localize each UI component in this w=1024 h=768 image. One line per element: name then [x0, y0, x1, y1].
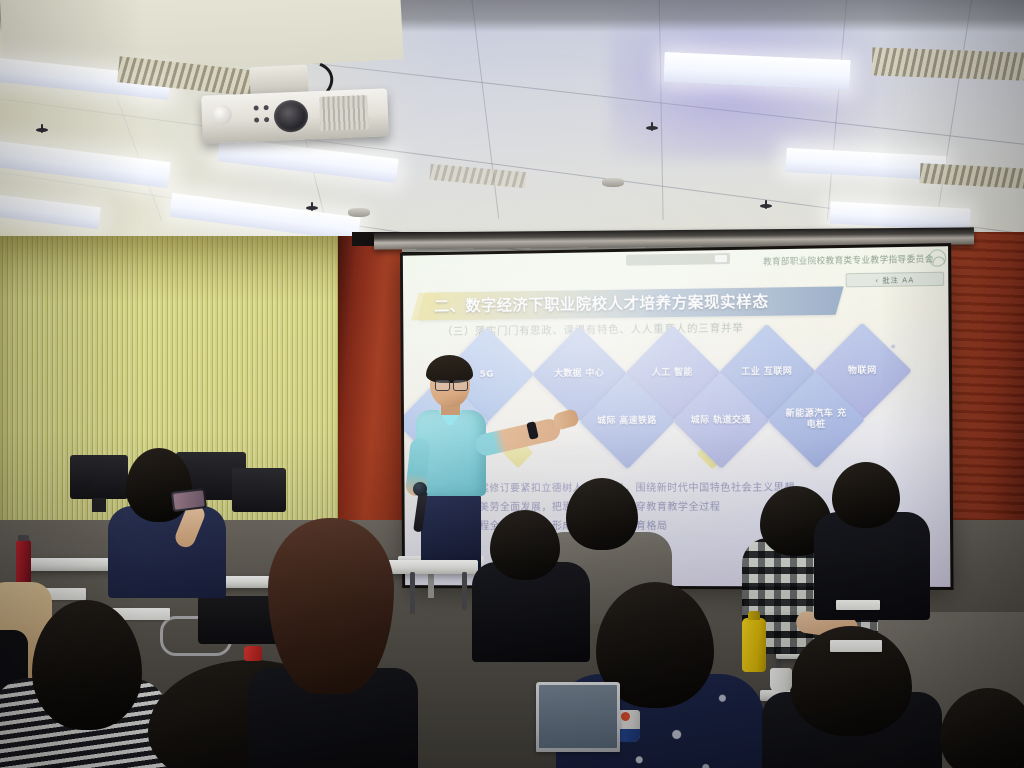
paper-sheet — [836, 600, 880, 610]
projector-indicator-icon — [264, 117, 269, 122]
laptop[interactable] — [536, 682, 620, 752]
smoke-detector — [348, 208, 370, 217]
projector — [201, 88, 389, 143]
sprinkler-head — [36, 128, 48, 132]
diamond-label: 物联网 — [828, 365, 898, 377]
projector-indicator-icon — [254, 117, 259, 122]
projector-focus-knob — [212, 105, 233, 126]
sprinkler-head — [646, 126, 658, 130]
projector-vent — [319, 95, 368, 131]
smoke-detector — [602, 178, 624, 187]
attendee-head — [268, 518, 394, 694]
desk-monitor-stand — [92, 498, 106, 512]
diamond-label: 城际 轨道交通 — [687, 415, 755, 427]
presenter-hair — [426, 355, 473, 383]
smartphone — [171, 488, 207, 512]
ppt-floating-toolbar[interactable]: ‹ 批注 AA — [846, 272, 945, 288]
projector-lens-icon — [273, 99, 308, 132]
yellow-bottle — [742, 618, 766, 672]
attendee-far-right — [940, 688, 1024, 768]
laptop-screen-surface — [539, 685, 617, 748]
lecture-hall-scene: ‹ 批注 AA 教育部职业院校教育类专业教学指导委员会 二、数字经济下职业院校人… — [0, 0, 1024, 768]
ceiling-air-vent — [872, 47, 1024, 80]
diamond-label: 工业 互联网 — [733, 366, 802, 378]
committee-logo-icon — [928, 249, 946, 267]
slide-organization-text: 教育部职业院校教育类专业教学指导委员会 — [763, 253, 934, 268]
paper-sheet — [830, 640, 882, 652]
attendee-rear-right — [818, 462, 938, 612]
podium-leg — [428, 572, 434, 598]
projector-indicator-icon — [254, 105, 259, 110]
cup-logo-icon — [621, 712, 630, 721]
microphone-icon — [413, 482, 427, 496]
sprinkler-head — [306, 206, 318, 210]
glasses-icon — [435, 380, 468, 389]
attendee-head — [490, 510, 560, 580]
attendee-photographer — [116, 448, 256, 588]
projector-indicator-icon — [264, 105, 269, 110]
red-bottle-cap — [244, 646, 262, 661]
diamond-label: 新能源汽车 充电桩 — [782, 409, 851, 432]
presenter-pointing-arm — [474, 417, 563, 458]
ppt-toolbar[interactable] — [626, 253, 730, 266]
white-coffee-cup — [770, 668, 792, 692]
diamond-label: 城际 高速铁路 — [593, 416, 661, 427]
ceiling — [0, 0, 1024, 252]
attendee-head — [832, 462, 900, 528]
sprinkler-head — [760, 204, 772, 208]
diamond-label: 人工 智能 — [639, 367, 707, 379]
attendee-head — [32, 600, 142, 730]
attendee-long-hair — [254, 518, 414, 768]
desk-leg — [462, 572, 467, 610]
attendee-head — [940, 688, 1024, 768]
phone-screen — [173, 490, 205, 510]
